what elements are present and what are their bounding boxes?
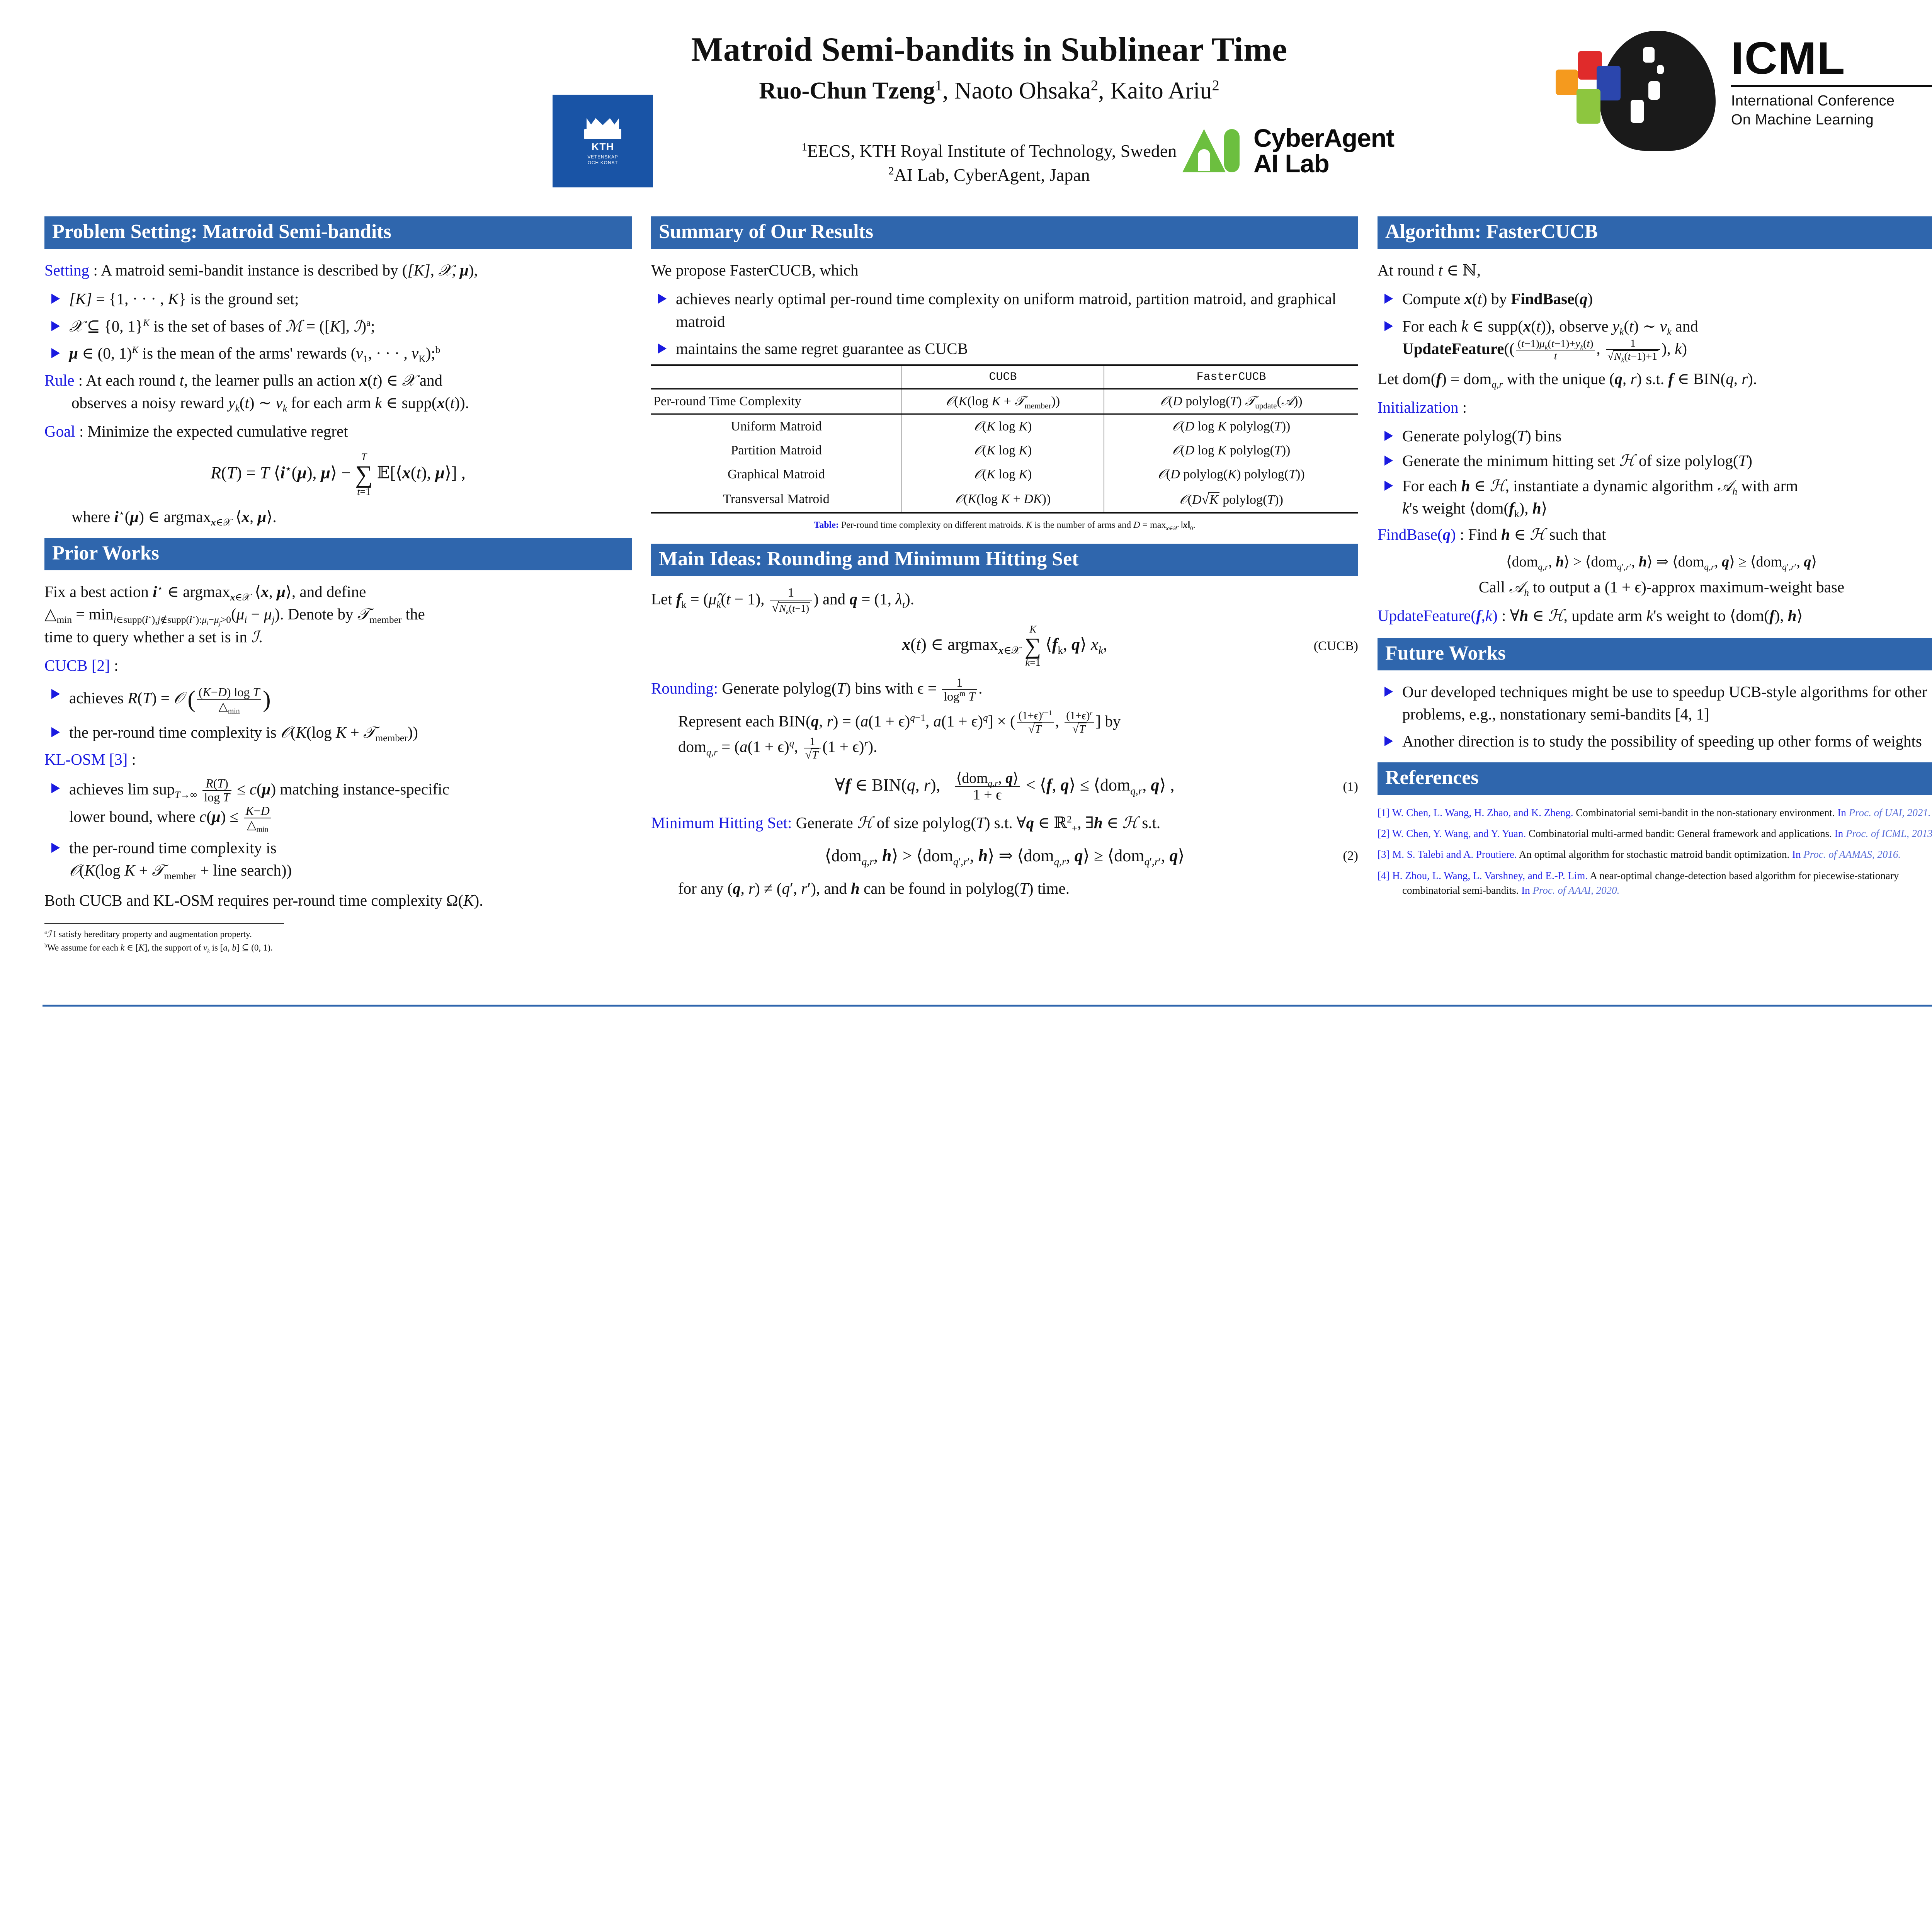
- kth-logo: KTH VETENSKAPOCH KONST: [553, 95, 653, 187]
- author-tertiary: , Kaito Ariu: [1098, 78, 1212, 104]
- updatefeature-label: UpdateFeature(f,k): [1378, 607, 1498, 624]
- algorithm-let-dom: Let dom(f) = domq,r with the unique (q, …: [1378, 367, 1932, 390]
- author-secondary: , Naoto Ohsaka: [942, 78, 1091, 104]
- row-cucb-value: 𝒪(K log K): [902, 439, 1104, 463]
- ref-venue: Proc. of ICML: [1846, 828, 1906, 839]
- rule-paragraph: Rule : At each round t, the learner pull…: [44, 369, 632, 414]
- ref-venue-in: In: [1521, 884, 1532, 896]
- affil-marker-1: 1: [935, 77, 942, 94]
- table-caption: Table: Per-round time complexity on diff…: [651, 519, 1358, 532]
- ref-number: [3]: [1378, 849, 1389, 860]
- list-item: Generate polylog(T) bins: [1402, 425, 1932, 447]
- equation-2: ⟨domq,r, h⟩ > ⟨domq′,r′, h⟩ ⇒ ⟨domq,r, q…: [651, 843, 1358, 869]
- list-item: [4] H. Zhou, L. Wang, L. Varshney, and E…: [1378, 868, 1932, 898]
- table-row: Transversal Matroid 𝒪(K(log K + DK)) 𝒪(D…: [651, 486, 1358, 513]
- cyberagent-line1: CyberAgent: [1253, 124, 1394, 152]
- summary-intro: We propose FasterCUCB, which: [651, 259, 1358, 281]
- ref-year: , 2013.: [1906, 828, 1932, 839]
- initialization-label-text: Initialization: [1378, 398, 1458, 416]
- list-item: achieves R(T) = 𝒪 ( (K−D) log T △min ): [69, 683, 632, 716]
- table-row: Per-round Time Complexity 𝒪(K(log K + 𝒯m…: [651, 389, 1358, 414]
- setting-text: : A matroid semi-bandit instance is desc…: [89, 261, 478, 279]
- equation-tag-2: (2): [1343, 846, 1358, 866]
- rule-label: Rule: [44, 371, 74, 389]
- findbase-call: Call 𝒜h to output a (1 + ϵ)-approx maxim…: [1378, 576, 1932, 598]
- klosm-label-text: KL-OSM [3]: [44, 750, 128, 768]
- icml-wordmark: ICML International Conference On Machine…: [1731, 36, 1932, 130]
- table-row: Graphical Matroid 𝒪(K log K) 𝒪(D polylog…: [651, 463, 1358, 486]
- mhs-tail: for any (q, r) ≠ (q′, r′), and h can be …: [651, 877, 1358, 900]
- list-item: Compute x(t) by FindBase(q): [1402, 287, 1932, 310]
- table-col-fastercucb: FasterCUCB: [1104, 365, 1358, 389]
- ref-year: , 2020.: [1591, 884, 1619, 896]
- footnote-a-text: I satisfy hereditary property and augmen…: [53, 929, 252, 939]
- equation-tag-1: (1): [1343, 777, 1358, 796]
- affiliation-kth: EECS, KTH Royal Institute of Technology,…: [807, 141, 1177, 161]
- algorithm-at-round: At round t ∈ ℕ,: [1378, 259, 1932, 281]
- affil-num-1: 1: [802, 141, 807, 153]
- ref-year: , 2021.: [1902, 807, 1930, 818]
- section-header-main-ideas: Main Ideas: Rounding and Minimum Hitting…: [651, 544, 1358, 576]
- footnote-a: aℐ I satisfy hereditary property and aug…: [44, 928, 632, 941]
- row-faster-value: 𝒪(D√K polylog(T)): [1104, 486, 1358, 513]
- row-label: Per-round Time Complexity: [651, 389, 902, 414]
- table-col-cucb: CUCB: [902, 365, 1104, 389]
- list-item: [2] W. Chen, Y. Wang, and Y. Yuan. Combi…: [1378, 826, 1932, 841]
- cucb-label-text: CUCB [2]: [44, 656, 110, 674]
- icml-square-green: [1577, 89, 1600, 124]
- section-header-summary: Summary of Our Results: [651, 216, 1358, 249]
- icml-square-orange: [1556, 70, 1578, 95]
- mhs-paragraph: Minimum Hitting Set: Generate ℋ of size …: [651, 811, 1358, 834]
- list-item: Our developed techniques might be use to…: [1402, 680, 1932, 725]
- cyberagent-mark-icon: [1182, 128, 1240, 174]
- ref-venue-in: In: [1792, 849, 1803, 860]
- ref-number: [1]: [1378, 807, 1389, 818]
- kth-logo-name: KTH: [592, 141, 614, 153]
- list-item: μ ∈ (0, 1)K is the mean of the arms' rew…: [69, 342, 632, 364]
- affiliation-cyberagent: AI Lab, CyberAgent, Japan: [894, 165, 1090, 185]
- poster-root: Matroid Semi-bandits in Sublinear Time R…: [0, 0, 1932, 1113]
- findbase-paragraph: FindBase(q) : Find h ∈ ℋ such that: [1378, 523, 1932, 546]
- rounding-label: Rounding:: [651, 679, 718, 697]
- row-cucb-value: 𝒪(K(log K + DK)): [902, 486, 1104, 513]
- list-item: 𝒳 ⊆ {0, 1}K is the set of bases of ℳ = (…: [69, 315, 632, 337]
- crown-icon: [584, 117, 621, 139]
- column-middle: Summary of Our Results We propose Faster…: [651, 216, 1358, 906]
- section-header-algorithm: Algorithm: FasterCUCB: [1378, 216, 1932, 249]
- ref-venue-in: In: [1837, 807, 1849, 818]
- footnotes: aℐ I satisfy hereditary property and aug…: [44, 919, 632, 954]
- ref-venue: Proc. of UAI: [1849, 807, 1902, 818]
- table-row: Uniform Matroid 𝒪(K log K) 𝒪(D log K pol…: [651, 414, 1358, 439]
- list-item: the per-round time complexity is 𝒪(K(log…: [69, 721, 632, 743]
- klosm-label: KL-OSM [3] :: [44, 748, 632, 770]
- affil-num-2: 2: [888, 165, 894, 177]
- kth-logo-motto: VETENSKAPOCH KONST: [587, 154, 618, 165]
- icml-title: ICML: [1731, 36, 1932, 81]
- icml-divider: [1731, 85, 1932, 87]
- list-item: [3] M. S. Talebi and A. Proutiere. An op…: [1378, 847, 1932, 862]
- row-label: Partition Matroid: [651, 439, 902, 463]
- affil-marker-2: 2: [1091, 77, 1098, 94]
- table-row: Partition Matroid 𝒪(K log K) 𝒪(D log K p…: [651, 439, 1358, 463]
- findbase-equation: ⟨domq,r, h⟩ > ⟨domq′,r′, h⟩ ⇒ ⟨domq,r, q…: [1378, 552, 1932, 573]
- klosm-bullets: achieves lim supT→∞ R(T)log T ≤ c(μ) mat…: [44, 777, 632, 882]
- icml-dot-4: [1631, 100, 1644, 123]
- equation-tag-cucb: (CUCB): [1314, 636, 1358, 656]
- section-header-future-works: Future Works: [1378, 638, 1932, 670]
- row-faster-value: 𝒪(D polylog(K) polylog(T)): [1104, 463, 1358, 486]
- cucb-equation: x(t) ∈ argmaxx∈𝒳 K ∑ k=1 ⟨fk, q⟩ xk, (CU…: [651, 624, 1358, 668]
- regret-equation: R(T) = T ⟨i⋆(μ), μ⟩ − T ∑ t=1 𝔼[⟨x(t), μ…: [44, 452, 632, 497]
- row-label: Graphical Matroid: [651, 463, 902, 486]
- row-faster-value: 𝒪(D log K polylog(T)): [1104, 414, 1358, 439]
- row-label: Uniform Matroid: [651, 414, 902, 439]
- ref-year: , 2016.: [1872, 849, 1901, 860]
- column-left: Problem Setting: Matroid Semi-bandits Se…: [44, 216, 632, 954]
- ref-title: Combinatorial semi-bandit in the non-sta…: [1573, 807, 1838, 818]
- results-table: CUCB FasterCUCB Per-round Time Complexit…: [651, 364, 1358, 514]
- row-cucb-value: 𝒪(K log K): [902, 414, 1104, 439]
- list-item: Another direction is to study the possib…: [1402, 730, 1932, 752]
- equation-1: ∀f ∈ BIN(q, r), ⟨domq,r, q⟩1 + ϵ < ⟨f, q…: [651, 770, 1358, 803]
- icml-subtitle-1: International Conference: [1731, 92, 1932, 111]
- ref-venue: Proc. of AAAI: [1532, 884, 1591, 896]
- ref-number: [4]: [1378, 870, 1389, 881]
- footer-divider: [43, 1005, 1932, 1007]
- goal-paragraph: Goal : Minimize the expected cumulative …: [44, 420, 632, 442]
- findbase-label: FindBase(q): [1378, 526, 1456, 543]
- future-works-bullets: Our developed techniques might be use to…: [1378, 680, 1932, 753]
- goal-label: Goal: [44, 422, 75, 440]
- ref-title: An optimal algorithm for stochastic matr…: [1517, 849, 1792, 860]
- table-col-empty: [651, 365, 902, 389]
- table-header-row: CUCB FasterCUCB: [651, 365, 1358, 389]
- updatefeature-paragraph: UpdateFeature(f,k) : ∀h ∈ ℋ, update arm …: [1378, 604, 1932, 627]
- section-header-prior-works: Prior Works: [44, 538, 632, 570]
- algorithm-bullets: Compute x(t) by FindBase(q) For each k ∈…: [1378, 287, 1932, 362]
- cucb-label: CUCB [2] :: [44, 654, 632, 677]
- list-item: [K] = {1, · · · , K} is the ground set;: [69, 287, 632, 310]
- icml-logo: ICML International Conference On Machine…: [1553, 27, 1932, 155]
- list-item: For each h ∈ ℋ, instantiate a dynamic al…: [1402, 474, 1932, 519]
- list-item: Generate the minimum hitting set ℋ of si…: [1402, 449, 1932, 472]
- list-item: maintains the same regret guarantee as C…: [676, 337, 1358, 360]
- list-item: For each k ∈ supp(x(t)), observe yk(t) ∼…: [1402, 315, 1932, 363]
- represent-paragraph: Represent each BIN(q, r) = (a(1 + ϵ)q−1,…: [651, 710, 1358, 761]
- references-list: [1] W. Chen, L. Wang, H. Zhao, and K. Zh…: [1378, 805, 1932, 898]
- mhs-label: Minimum Hitting Set:: [651, 814, 792, 832]
- setting-label: Setting: [44, 261, 89, 279]
- prior-works-closing: Both CUCB and KL-OSM requires per-round …: [44, 889, 632, 912]
- cyberagent-line2: AI Lab: [1253, 149, 1329, 178]
- initialization-bullets: Generate polylog(T) bins Generate the mi…: [1378, 425, 1932, 519]
- ref-venue: Proc. of AAMAS: [1803, 849, 1872, 860]
- ref-number: [2]: [1378, 828, 1389, 839]
- main-ideas-let: Let fk = (μ̂k(t − 1), 1√Nk(t−1)) and q =…: [651, 586, 1358, 615]
- cucb-bullets: achieves R(T) = 𝒪 ( (K−D) log T △min ) t…: [44, 683, 632, 744]
- setting-bullets: [K] = {1, · · · , K} is the ground set; …: [44, 287, 632, 364]
- section-header-problem-setting: Problem Setting: Matroid Semi-bandits: [44, 216, 632, 249]
- ref-authors: W. Chen, L. Wang, H. Zhao, and K. Zheng.: [1392, 807, 1573, 818]
- summary-bullets: achieves nearly optimal per-round time c…: [651, 287, 1358, 360]
- icml-dot-1: [1643, 47, 1655, 63]
- row-cucb-value: 𝒪(K log K): [902, 463, 1104, 486]
- row-cucb-value: 𝒪(K(log K + 𝒯member)): [902, 389, 1104, 414]
- ref-authors: W. Chen, Y. Wang, and Y. Yuan.: [1392, 828, 1526, 839]
- ref-venue-in: In: [1835, 828, 1846, 839]
- prior-works-intro: Fix a best action i⋆ ∈ argmaxx∈𝒳 ⟨x, μ⟩,…: [44, 580, 632, 648]
- list-item: achieves nearly optimal per-round time c…: [676, 287, 1358, 332]
- list-item: the per-round time complexity is 𝒪(K(log…: [69, 837, 632, 881]
- table-caption-label: Table:: [814, 520, 838, 530]
- ref-title: Combinatorial multi-armed bandit: Genera…: [1526, 828, 1835, 839]
- poster-footer: erc European Research Council Establishe…: [0, 1012, 1932, 1113]
- author-primary: Ruo-Chun Tzeng: [759, 78, 935, 104]
- footnote-divider: [44, 923, 284, 924]
- column-right: Algorithm: FasterCUCB At round t ∈ ℕ, Co…: [1378, 216, 1932, 904]
- icml-dot-3: [1648, 81, 1660, 100]
- list-item: achieves lim supT→∞ R(T)log T ≤ c(μ) mat…: [69, 777, 632, 832]
- footnote-b: bWe assume for each k ∈ [K], the support…: [44, 941, 632, 955]
- regret-where: where i⋆(μ) ∈ argmaxx∈𝒳 ⟨x, μ⟩.: [44, 505, 632, 528]
- rounding-paragraph: Rounding: Generate polylog(T) bins with …: [651, 676, 1358, 704]
- poster-header: Matroid Semi-bandits in Sublinear Time R…: [0, 0, 1932, 209]
- list-item: [1] W. Chen, L. Wang, H. Zhao, and K. Zh…: [1378, 805, 1932, 820]
- ref-authors: M. S. Talebi and A. Proutiere.: [1392, 849, 1517, 860]
- icml-dot-2: [1657, 65, 1664, 74]
- row-faster-value: 𝒪(D polylog(T) 𝒯update(𝒜)): [1104, 389, 1358, 414]
- row-faster-value: 𝒪(D log K polylog(T)): [1104, 439, 1358, 463]
- row-label: Transversal Matroid: [651, 486, 902, 513]
- cyberagent-logo: CyberAgent AI Lab: [1182, 116, 1453, 185]
- cyberagent-wordmark: CyberAgent AI Lab: [1253, 125, 1394, 176]
- icml-subtitle-2: On Machine Learning: [1731, 111, 1932, 129]
- ref-authors: H. Zhou, L. Wang, L. Varshney, and E.-P.…: [1392, 870, 1588, 881]
- setting-paragraph: Setting : A matroid semi-bandit instance…: [44, 259, 632, 281]
- section-header-references: References: [1378, 762, 1932, 795]
- initialization-label: Initialization :: [1378, 396, 1932, 418]
- affil-marker-3: 2: [1212, 77, 1219, 94]
